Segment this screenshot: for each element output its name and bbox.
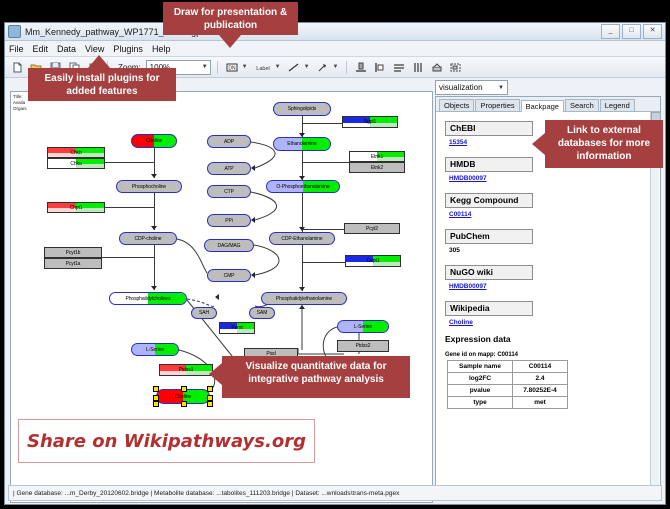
interaction-icon[interactable] bbox=[315, 59, 331, 75]
db-header-wikipedia: Wikipedia bbox=[445, 301, 533, 316]
arrow-icon bbox=[215, 294, 219, 300]
db-header-kegg-compound: Kegg Compound bbox=[445, 193, 533, 208]
expression-key: log2FC bbox=[448, 373, 513, 385]
svg-text:Label: Label bbox=[256, 66, 269, 72]
table-row: log2FC2.4 bbox=[448, 373, 568, 385]
db-header-hmdb: HMDB bbox=[445, 157, 533, 172]
expression-key: pvalue bbox=[448, 385, 513, 397]
callout-visualize: Visualize quantitative data for integrat… bbox=[222, 356, 410, 398]
metabolite-node-l-serine-left[interactable]: L-Serine bbox=[131, 343, 179, 356]
canvas-metadata: Title: Availa Organi bbox=[13, 94, 27, 112]
distribute-horizontal-icon[interactable] bbox=[410, 59, 426, 75]
maximize-button[interactable]: □ bbox=[622, 24, 641, 39]
arrow-icon bbox=[151, 286, 157, 290]
share-text: Share on Wikipathways.org bbox=[27, 431, 306, 452]
arrow-icon bbox=[299, 305, 305, 309]
metabolite-node-cdp-ethanolamine[interactable]: CDP-Ethanolamine bbox=[269, 232, 335, 245]
edge-cdpcholine-pc bbox=[154, 245, 155, 290]
metabolite-node-choline-top[interactable]: Choline bbox=[131, 134, 177, 148]
chevron-down-icon-datanode[interactable]: ▼ bbox=[242, 64, 248, 70]
side-panel-scrollbar[interactable]: ▼ bbox=[650, 112, 659, 499]
db-value-pubchem: 305 bbox=[449, 247, 652, 254]
chevron-down-icon-visualization: ▼ bbox=[498, 85, 504, 91]
window-controls: _ □ ✕ bbox=[601, 24, 662, 39]
gene-node-sgpl1[interactable]: Sgpl1 bbox=[342, 116, 398, 128]
metabolite-node-sam[interactable]: SAM bbox=[249, 307, 275, 319]
backpage-content: ChEBI15354HMDBHMDB00097Kegg CompoundC001… bbox=[437, 112, 652, 499]
metabolite-node-phosphocholine[interactable]: Phosphocholine bbox=[116, 180, 182, 193]
db-value-hmdb[interactable]: HMDB00097 bbox=[449, 175, 652, 182]
selection-handle[interactable] bbox=[153, 386, 159, 392]
callout-draw: Draw for presentation & publication bbox=[163, 2, 298, 35]
gene-node-chkb[interactable]: Chkb bbox=[47, 147, 105, 158]
gene-node-etnk1[interactable]: Etnk1 bbox=[349, 151, 405, 162]
selection-handle[interactable] bbox=[181, 401, 187, 407]
expression-value: 7.80252E-4 bbox=[513, 385, 568, 397]
gene-node-ptdss2[interactable]: Ptdss2 bbox=[337, 340, 389, 352]
metabolite-node-ppi[interactable]: PPi bbox=[207, 214, 251, 227]
distribute-vertical-icon[interactable] bbox=[391, 59, 407, 75]
line-icon[interactable] bbox=[286, 59, 302, 75]
metabolite-node-ethanolamine1[interactable]: Ethanolamine bbox=[273, 137, 331, 151]
menu-view[interactable]: View bbox=[85, 44, 104, 54]
gene-node-pcyt2[interactable]: Pcyt2 bbox=[344, 223, 400, 234]
new-document-icon[interactable] bbox=[9, 59, 25, 75]
gene-node-pcyt1a[interactable]: Pcyt1a bbox=[44, 258, 102, 269]
menu-file[interactable]: File bbox=[9, 44, 24, 54]
edge-phosphocholine-cdpcholine bbox=[154, 193, 155, 230]
callout-links-arrow bbox=[532, 133, 545, 155]
gene-node-cept1[interactable]: Cept1 bbox=[345, 255, 401, 267]
metabolite-node-cdp-choline[interactable]: CDP-choline bbox=[119, 232, 177, 245]
chevron-down-icon: ▼ bbox=[202, 64, 208, 70]
edge-pcyt2 bbox=[302, 229, 346, 230]
align-left-icon[interactable] bbox=[372, 59, 388, 75]
metabolite-node-ctp[interactable]: CTP bbox=[207, 185, 251, 198]
edge-chk-to-pathway bbox=[105, 162, 154, 163]
window-titlebar: Mm_Kennedy_pathway_WP1771_45176.gpml _ □… bbox=[5, 23, 665, 41]
gene-node-pcyt1b[interactable]: Pcyt1b bbox=[44, 247, 102, 258]
metabolite-node-adp[interactable]: ADP bbox=[207, 135, 251, 148]
canvas-meta-organism: Organi bbox=[13, 106, 27, 112]
metabolite-node-sah[interactable]: SAH bbox=[191, 307, 217, 319]
gene-id-line: Gene id on mapp: C00114 bbox=[445, 352, 652, 358]
visualization-value: visualization bbox=[439, 83, 483, 92]
table-row: pvalue7.80252E-4 bbox=[448, 385, 568, 397]
edge-chpt1-to-pathway bbox=[105, 207, 154, 208]
menu-plugins[interactable]: Plugins bbox=[113, 44, 143, 54]
expression-value: C00114 bbox=[513, 361, 568, 373]
stack-icon[interactable] bbox=[429, 59, 445, 75]
callout-links: Link to external databases for more info… bbox=[545, 120, 663, 168]
selection-handle[interactable] bbox=[207, 386, 213, 392]
status-text: | Gene database: ...m_Derby_20120602.bri… bbox=[13, 490, 399, 497]
toolbar-separator-3 bbox=[346, 61, 347, 74]
selection-handle[interactable] bbox=[153, 401, 159, 407]
edge-sgpl1 bbox=[302, 123, 344, 124]
selection-handle[interactable] bbox=[207, 395, 213, 401]
expression-data-table: Sample nameC00114log2FC2.4pvalue7.80252E… bbox=[447, 360, 568, 409]
svg-text:DN: DN bbox=[228, 65, 236, 71]
db-header-nugo-wiki: NuGO wiki bbox=[445, 265, 533, 280]
metabolite-node-dagmag[interactable]: DAG/MAG bbox=[204, 239, 254, 252]
group-icon[interactable] bbox=[448, 59, 464, 75]
expression-value: met bbox=[513, 397, 568, 409]
tab-properties[interactable]: Properties bbox=[475, 99, 519, 111]
tab-legend[interactable]: Legend bbox=[600, 99, 635, 111]
datanode-icon[interactable]: DN bbox=[224, 59, 240, 75]
menu-edit[interactable]: Edit bbox=[33, 44, 49, 54]
minimize-button[interactable]: _ bbox=[601, 24, 620, 39]
chevron-down-icon-line[interactable]: ▼ bbox=[304, 64, 310, 70]
metabolite-node-sphingolipids[interactable]: Sphingolipids bbox=[273, 102, 331, 116]
table-row: typemet bbox=[448, 397, 568, 409]
tab-search[interactable]: Search bbox=[565, 99, 599, 111]
visualization-combo[interactable]: visualization ▼ bbox=[435, 80, 508, 95]
callout-plugins: Easily install plugins for added feature… bbox=[28, 68, 176, 101]
metabolite-node-l-serine-right[interactable]: L-Serine bbox=[337, 320, 389, 333]
expression-key: Sample name bbox=[448, 361, 513, 373]
chevron-down-icon-label[interactable]: ▼ bbox=[275, 64, 281, 70]
callout-visualize-arrow bbox=[209, 363, 222, 385]
metabolite-node-o-phosphoethanolamine[interactable]: O-Phosphoethanolamine bbox=[266, 180, 340, 193]
gene-node-etnk2[interactable]: Etnk2 bbox=[349, 162, 405, 173]
tab-backpage[interactable]: Backpage bbox=[521, 100, 564, 112]
edge-cdpetn-pe bbox=[302, 245, 303, 291]
edge-cept1 bbox=[302, 262, 346, 263]
metabolite-node-phosphatidylcholines[interactable]: Phosphatidylcholines bbox=[109, 292, 187, 305]
arrow-icon bbox=[151, 226, 157, 230]
db-value-kegg-compound[interactable]: C00114 bbox=[449, 211, 652, 218]
expression-value: 2.4 bbox=[513, 373, 568, 385]
label-icon[interactable]: Label bbox=[253, 59, 273, 75]
db-value-nugo-wiki[interactable]: HMDB00097 bbox=[449, 283, 652, 290]
edge-pcyt1-to-pathway bbox=[102, 257, 154, 258]
toolbar-separator-2 bbox=[217, 61, 218, 74]
arrow-icon bbox=[151, 174, 157, 178]
selection-handle[interactable] bbox=[153, 395, 159, 401]
align-bottom-icon[interactable] bbox=[353, 59, 369, 75]
edge-etnk bbox=[302, 162, 350, 163]
gene-node-chpt1-left[interactable]: Chpt1 bbox=[47, 202, 105, 213]
arrow-icon bbox=[299, 287, 305, 291]
callout-share: Share on Wikipathways.org bbox=[18, 419, 315, 463]
app-logo-icon bbox=[8, 25, 21, 38]
db-header-pubchem: PubChem bbox=[445, 229, 533, 244]
callout-draw-arrow bbox=[219, 35, 241, 48]
menu-help[interactable]: Help bbox=[152, 44, 171, 54]
table-row: Sample nameC00114 bbox=[448, 361, 568, 373]
tab-objects[interactable]: Objects bbox=[439, 99, 474, 111]
arrow-icon bbox=[251, 272, 255, 278]
metabolite-node-atp[interactable]: ATP bbox=[207, 162, 251, 175]
selection-handle[interactable] bbox=[181, 386, 187, 392]
gene-node-chka[interactable]: Chka bbox=[47, 158, 105, 169]
selection-handle[interactable] bbox=[207, 401, 213, 407]
db-value-wikipedia[interactable]: Choline bbox=[449, 319, 652, 326]
arrow-icon bbox=[251, 165, 255, 171]
chevron-down-icon-interaction[interactable]: ▼ bbox=[333, 64, 339, 70]
gene-node-ptdss1[interactable]: Ptdss1 bbox=[159, 364, 213, 376]
menu-data[interactable]: Data bbox=[57, 44, 76, 54]
expression-data-title: Expression data bbox=[445, 334, 652, 344]
expression-key: type bbox=[448, 397, 513, 409]
gene-node-pemt[interactable]: Pemt bbox=[219, 322, 255, 334]
arrow-icon bbox=[251, 217, 255, 223]
close-button[interactable]: ✕ bbox=[643, 24, 662, 39]
db-header-chebi: ChEBI bbox=[445, 121, 533, 136]
metabolite-node-cmp[interactable]: CMP bbox=[207, 269, 251, 282]
callout-plugins-arrow bbox=[88, 55, 110, 68]
status-bar: | Gene database: ...m_Derby_20120602.bri… bbox=[8, 485, 662, 501]
screenshot-root: Mm_Kennedy_pathway_WP1771_45176.gpml _ □… bbox=[0, 0, 670, 509]
side-panel-tabs: ObjectsPropertiesBackpageSearchLegend bbox=[436, 97, 660, 112]
metabolite-node-phosphatidylethanolamine[interactable]: Phosphatidylethanolamine bbox=[261, 292, 347, 305]
